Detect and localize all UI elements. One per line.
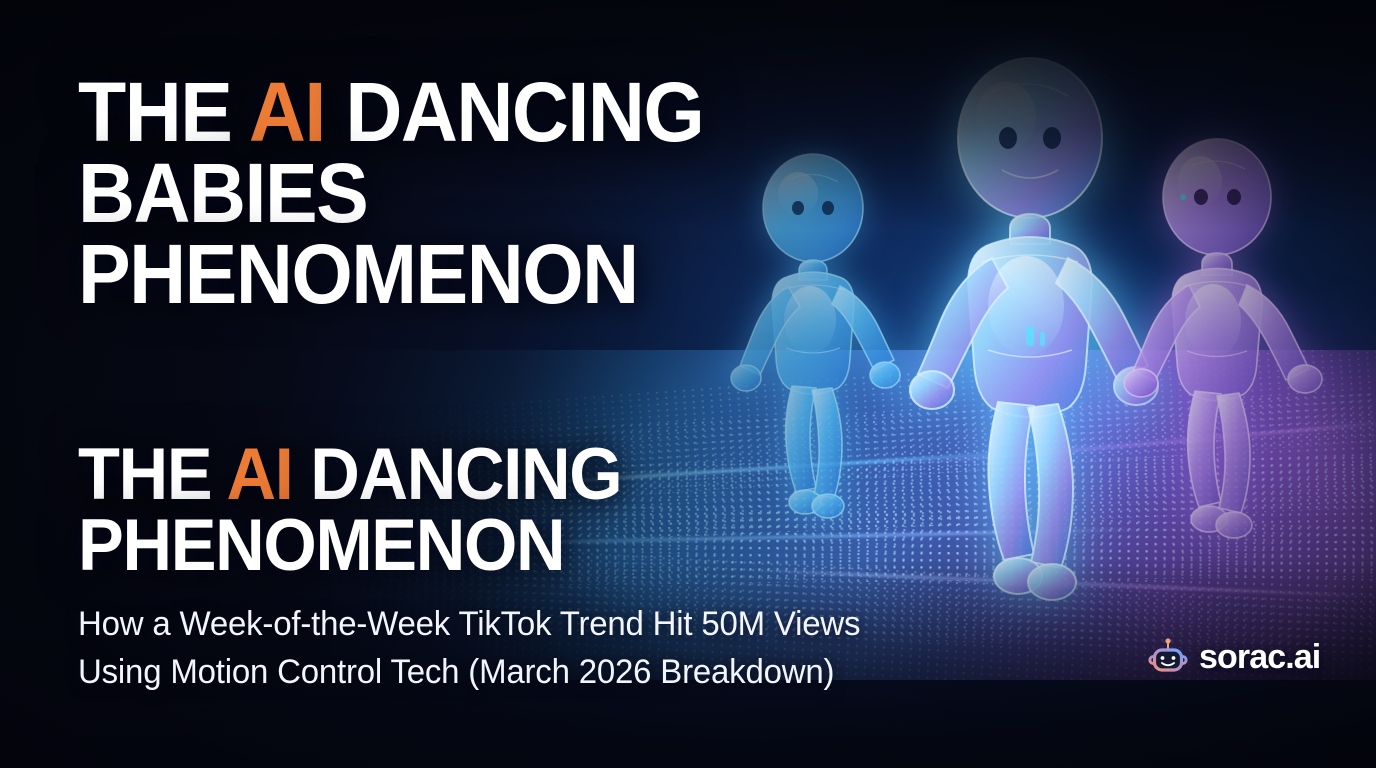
headline-primary-accent-ai: AI (249, 65, 325, 159)
headline-primary-line3: PHENOMENON (78, 227, 638, 321)
headline-secondary-accent-ai: AI (227, 434, 293, 515)
headline-secondary: THE AI DANCINGPHENOMENON (78, 440, 736, 582)
headline-primary-line1-pre: THE (78, 65, 249, 159)
headline-primary: THE AI DANCINGBABIESPHENOMENON (78, 72, 792, 315)
headline-secondary-line1-post: DANCING (292, 434, 621, 515)
headline-secondary-line2: PHENOMENON (78, 505, 564, 586)
headline-primary-line1-post: DANCING (325, 65, 703, 159)
headline-primary-line2: BABIES (78, 146, 367, 240)
headline-secondary-line1-pre: THE (78, 434, 227, 515)
brand-logo[interactable]: sorac.ai (1148, 637, 1320, 677)
robot-head-icon (1148, 637, 1188, 677)
subtitle: How a Week-of-the-Week TikTok Trend Hit … (78, 600, 1009, 697)
brand-name: sorac.ai (1199, 640, 1320, 674)
poster-canvas: THE AI DANCINGBABIESPHENOMENON THE AI DA… (0, 0, 1376, 768)
